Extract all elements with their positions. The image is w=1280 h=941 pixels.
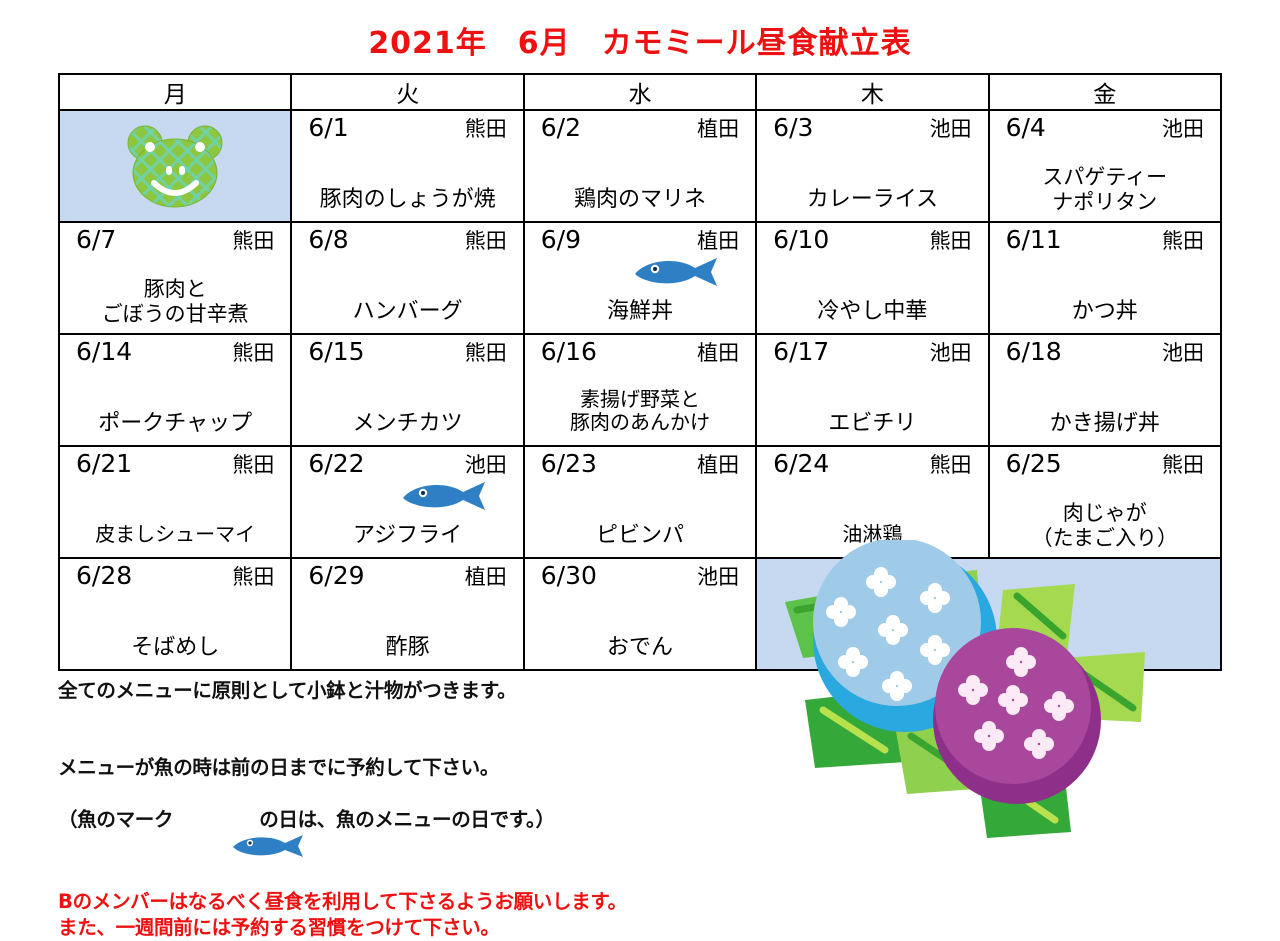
cell-header: 6/9 植田: [525, 223, 755, 255]
calendar-cell-frog-illustration: [59, 110, 291, 222]
note-fish-mark-line: （魚のマーク の日は、魚のメニューの日です。）: [58, 807, 758, 833]
cell-menu: ポークチャップ: [60, 411, 290, 437]
calendar-cell-day[interactable]: 6/25 熊田 肉じゃが （たまご入り）: [989, 446, 1221, 558]
cell-staff: 植田: [697, 229, 739, 253]
cell-staff: 池田: [1162, 341, 1204, 365]
cell-header: 6/14 熊田: [60, 335, 290, 367]
cell-header: 6/25 熊田: [990, 447, 1220, 479]
calendar-cell-day[interactable]: 6/17 池田 エビチリ: [756, 334, 988, 446]
cell-header: 6/2 植田: [525, 111, 755, 143]
cell-date: 6/2: [541, 114, 581, 143]
calendar-cell-day[interactable]: 6/21 熊田 皮ましシューマイ: [59, 446, 291, 558]
cell-menu: 豚肉と ごぼうの甘辛煮: [60, 277, 290, 327]
cell-date: 6/21: [76, 450, 132, 479]
cell-header: 6/16 植田: [525, 335, 755, 367]
calendar-cell-day[interactable]: 6/11 熊田 かつ丼: [989, 222, 1221, 334]
cell-date: 6/1: [308, 114, 348, 143]
cell-header: 6/30 池田: [525, 559, 755, 591]
calendar-week-row: 6/1 熊田 豚肉のしょうが焼 6/2 植田 鶏肉のマリネ 6/3 池田 カレー…: [59, 110, 1221, 222]
cell-date: 6/7: [76, 226, 116, 255]
cell-header: 6/15 熊田: [292, 335, 522, 367]
calendar-cell-day[interactable]: 6/29 植田 酢豚: [291, 558, 523, 670]
calendar-header: 月 火 水 木 金: [59, 74, 1221, 110]
cell-date: 6/11: [1006, 226, 1062, 255]
column-header-tuesday: 火: [291, 74, 523, 110]
cell-staff: 池田: [930, 341, 972, 365]
calendar-cell-day[interactable]: 6/14 熊田 ポークチャップ: [59, 334, 291, 446]
cell-header: 6/21 熊田: [60, 447, 290, 479]
page-title: 2021年 6月 カモミール昼食献立表: [0, 18, 1280, 62]
cell-staff: 熊田: [1162, 453, 1204, 477]
cell-date: 6/9: [541, 226, 581, 255]
cell-menu: メンチカツ: [292, 411, 522, 437]
calendar-cell-day[interactable]: 6/3 池田 カレーライス: [756, 110, 988, 222]
calendar-cell-day[interactable]: 6/8 熊田 ハンバーグ: [291, 222, 523, 334]
cell-menu: ピビンパ: [525, 523, 755, 549]
cell-header: 6/11 熊田: [990, 223, 1220, 255]
cell-staff: 池田: [697, 565, 739, 589]
cell-date: 6/29: [308, 562, 364, 591]
cell-date: 6/16: [541, 338, 597, 367]
cell-date: 6/24: [773, 450, 829, 479]
cell-menu: そばめし: [60, 635, 290, 661]
cell-menu: かつ丼: [990, 299, 1220, 325]
cell-staff: 植田: [697, 117, 739, 141]
cell-date: 6/4: [1006, 114, 1046, 143]
cell-header: 6/28 熊田: [60, 559, 290, 591]
cell-header: 6/17 池田: [757, 335, 987, 367]
cell-staff: 熊田: [232, 453, 274, 477]
note-fish-mark-prefix: （魚のマーク: [58, 807, 173, 833]
frog-icon: [123, 121, 227, 211]
cell-staff: 熊田: [1162, 229, 1204, 253]
cell-menu: 油淋鶏: [757, 523, 987, 547]
cell-header: 6/18 池田: [990, 335, 1220, 367]
cell-menu: アジフライ: [292, 523, 522, 549]
column-header-wednesday: 水: [524, 74, 756, 110]
cell-header: 6/24 熊田: [757, 447, 987, 479]
calendar-cell-day[interactable]: 6/28 熊田 そばめし: [59, 558, 291, 670]
calendar-cell-day[interactable]: 6/16 植田 素揚げ野菜と 豚肉のあんかけ: [524, 334, 756, 446]
cell-staff: 植田: [465, 565, 507, 589]
fish-icon: [401, 479, 487, 513]
cell-header: 6/8 熊田: [292, 223, 522, 255]
cell-staff: 池田: [1162, 117, 1204, 141]
cell-date: 6/17: [773, 338, 829, 367]
calendar-cell-day[interactable]: 6/7 熊田 豚肉と ごぼうの甘辛煮: [59, 222, 291, 334]
cell-header: 6/3 池田: [757, 111, 987, 143]
cell-staff: 植田: [697, 453, 739, 477]
cell-menu: 酢豚: [292, 635, 522, 661]
footer-notes: 全てのメニューに原則として小鉢と汁物がつきます。 メニューが魚の時は前の日までに…: [58, 678, 758, 941]
cell-menu: 素揚げ野菜と 豚肉のあんかけ: [525, 388, 755, 435]
note-fish-reservation-line1: メニューが魚の時は前の日までに予約して下さい。: [58, 755, 758, 781]
fish-icon: [633, 255, 719, 289]
cell-date: 6/23: [541, 450, 597, 479]
calendar-cell-hydrangea-illustration: [756, 558, 1221, 670]
cell-date: 6/3: [773, 114, 813, 143]
cell-staff: 熊田: [232, 229, 274, 253]
cell-staff: 熊田: [930, 453, 972, 477]
calendar-header-row: 月 火 水 木 金: [59, 74, 1221, 110]
note-side-dishes: 全てのメニューに原則として小鉢と汁物がつきます。: [58, 678, 758, 704]
cell-staff: 熊田: [930, 229, 972, 253]
cell-header: 6/29 植田: [292, 559, 522, 591]
calendar-week-row: 6/28 熊田 そばめし 6/29 植田 酢豚 6/30 池田 おでん: [59, 558, 1221, 670]
cell-date: 6/30: [541, 562, 597, 591]
cell-date: 6/28: [76, 562, 132, 591]
cell-date: 6/22: [308, 450, 364, 479]
cell-header: 6/10 熊田: [757, 223, 987, 255]
cell-staff: 植田: [697, 341, 739, 365]
column-header-friday: 金: [989, 74, 1221, 110]
calendar-cell-day[interactable]: 6/10 熊田 冷やし中華: [756, 222, 988, 334]
cell-staff: 池田: [465, 453, 507, 477]
calendar-cell-day[interactable]: 6/30 池田 おでん: [524, 558, 756, 670]
cell-menu: スパゲティー ナポリタン: [990, 165, 1220, 215]
note-member-request: Bのメンバーはなるべく昼食を利用して下さるようお願いします。 また、一週間前には…: [58, 889, 758, 941]
calendar-week-row: 6/21 熊田 皮ましシューマイ 6/22 池田 アジフライ: [59, 446, 1221, 558]
cell-staff: 熊田: [465, 229, 507, 253]
cell-menu: 冷やし中華: [757, 299, 987, 325]
cell-header: 6/23 植田: [525, 447, 755, 479]
column-header-thursday: 木: [756, 74, 988, 110]
calendar-cell-day[interactable]: 6/18 池田 かき揚げ丼: [989, 334, 1221, 446]
calendar-cell-day[interactable]: 6/9 植田 海鮮丼: [524, 222, 756, 334]
cell-menu: おでん: [525, 635, 755, 661]
calendar-cell-day[interactable]: 6/22 池田 アジフライ: [291, 446, 523, 558]
calendar-week-row: 6/7 熊田 豚肉と ごぼうの甘辛煮 6/8 熊田 ハンバーグ 6/9 植田: [59, 222, 1221, 334]
cell-date: 6/15: [308, 338, 364, 367]
calendar-cell-day[interactable]: 6/1 熊田 豚肉のしょうが焼: [291, 110, 523, 222]
cell-menu: 皮ましシューマイ: [60, 523, 290, 547]
calendar-body: 6/1 熊田 豚肉のしょうが焼 6/2 植田 鶏肉のマリネ 6/3 池田 カレー…: [59, 110, 1221, 670]
menu-calendar-table: 月 火 水 木 金: [58, 73, 1222, 671]
cell-staff: 熊田: [232, 565, 274, 589]
calendar-cell-day[interactable]: 6/15 熊田 メンチカツ: [291, 334, 523, 446]
cell-date: 6/8: [308, 226, 348, 255]
calendar-cell-day[interactable]: 6/2 植田 鶏肉のマリネ: [524, 110, 756, 222]
cell-staff: 熊田: [232, 341, 274, 365]
cell-date: 6/25: [1006, 450, 1062, 479]
calendar-week-row: 6/14 熊田 ポークチャップ 6/15 熊田 メンチカツ 6/16 植田 素揚…: [59, 334, 1221, 446]
cell-menu: エビチリ: [757, 411, 987, 437]
cell-menu: 豚肉のしょうが焼: [292, 187, 522, 213]
cell-date: 6/10: [773, 226, 829, 255]
cell-date: 6/14: [76, 338, 132, 367]
cell-menu: 肉じゃが （たまご入り）: [990, 501, 1220, 551]
cell-menu: ハンバーグ: [292, 299, 522, 325]
cell-staff: 熊田: [465, 341, 507, 365]
cell-menu: 鶏肉のマリネ: [525, 187, 755, 213]
cell-menu: かき揚げ丼: [990, 411, 1220, 437]
cell-header: 6/1 熊田: [292, 111, 522, 143]
cell-header: 6/4 池田: [990, 111, 1220, 143]
fish-icon: [179, 807, 253, 833]
cell-menu: カレーライス: [757, 187, 987, 213]
calendar-cell-day[interactable]: 6/4 池田 スパゲティー ナポリタン: [989, 110, 1221, 222]
note-fish-mark-suffix: の日は、魚のメニューの日です。）: [259, 807, 555, 833]
cell-staff: 熊田: [465, 117, 507, 141]
note-fish-reservation: メニューが魚の時は前の日までに予約して下さい。 （魚のマーク の日は、魚のメニュ…: [58, 730, 758, 859]
column-header-monday: 月: [59, 74, 291, 110]
cell-date: 6/18: [1006, 338, 1062, 367]
calendar-cell-day[interactable]: 6/24 熊田 油淋鶏: [756, 446, 988, 558]
calendar-cell-day[interactable]: 6/23 植田 ピビンパ: [524, 446, 756, 558]
cell-staff: 池田: [930, 117, 972, 141]
cell-header: 6/22 池田: [292, 447, 522, 479]
cell-menu: 海鮮丼: [525, 299, 755, 325]
cell-header: 6/7 熊田: [60, 223, 290, 255]
